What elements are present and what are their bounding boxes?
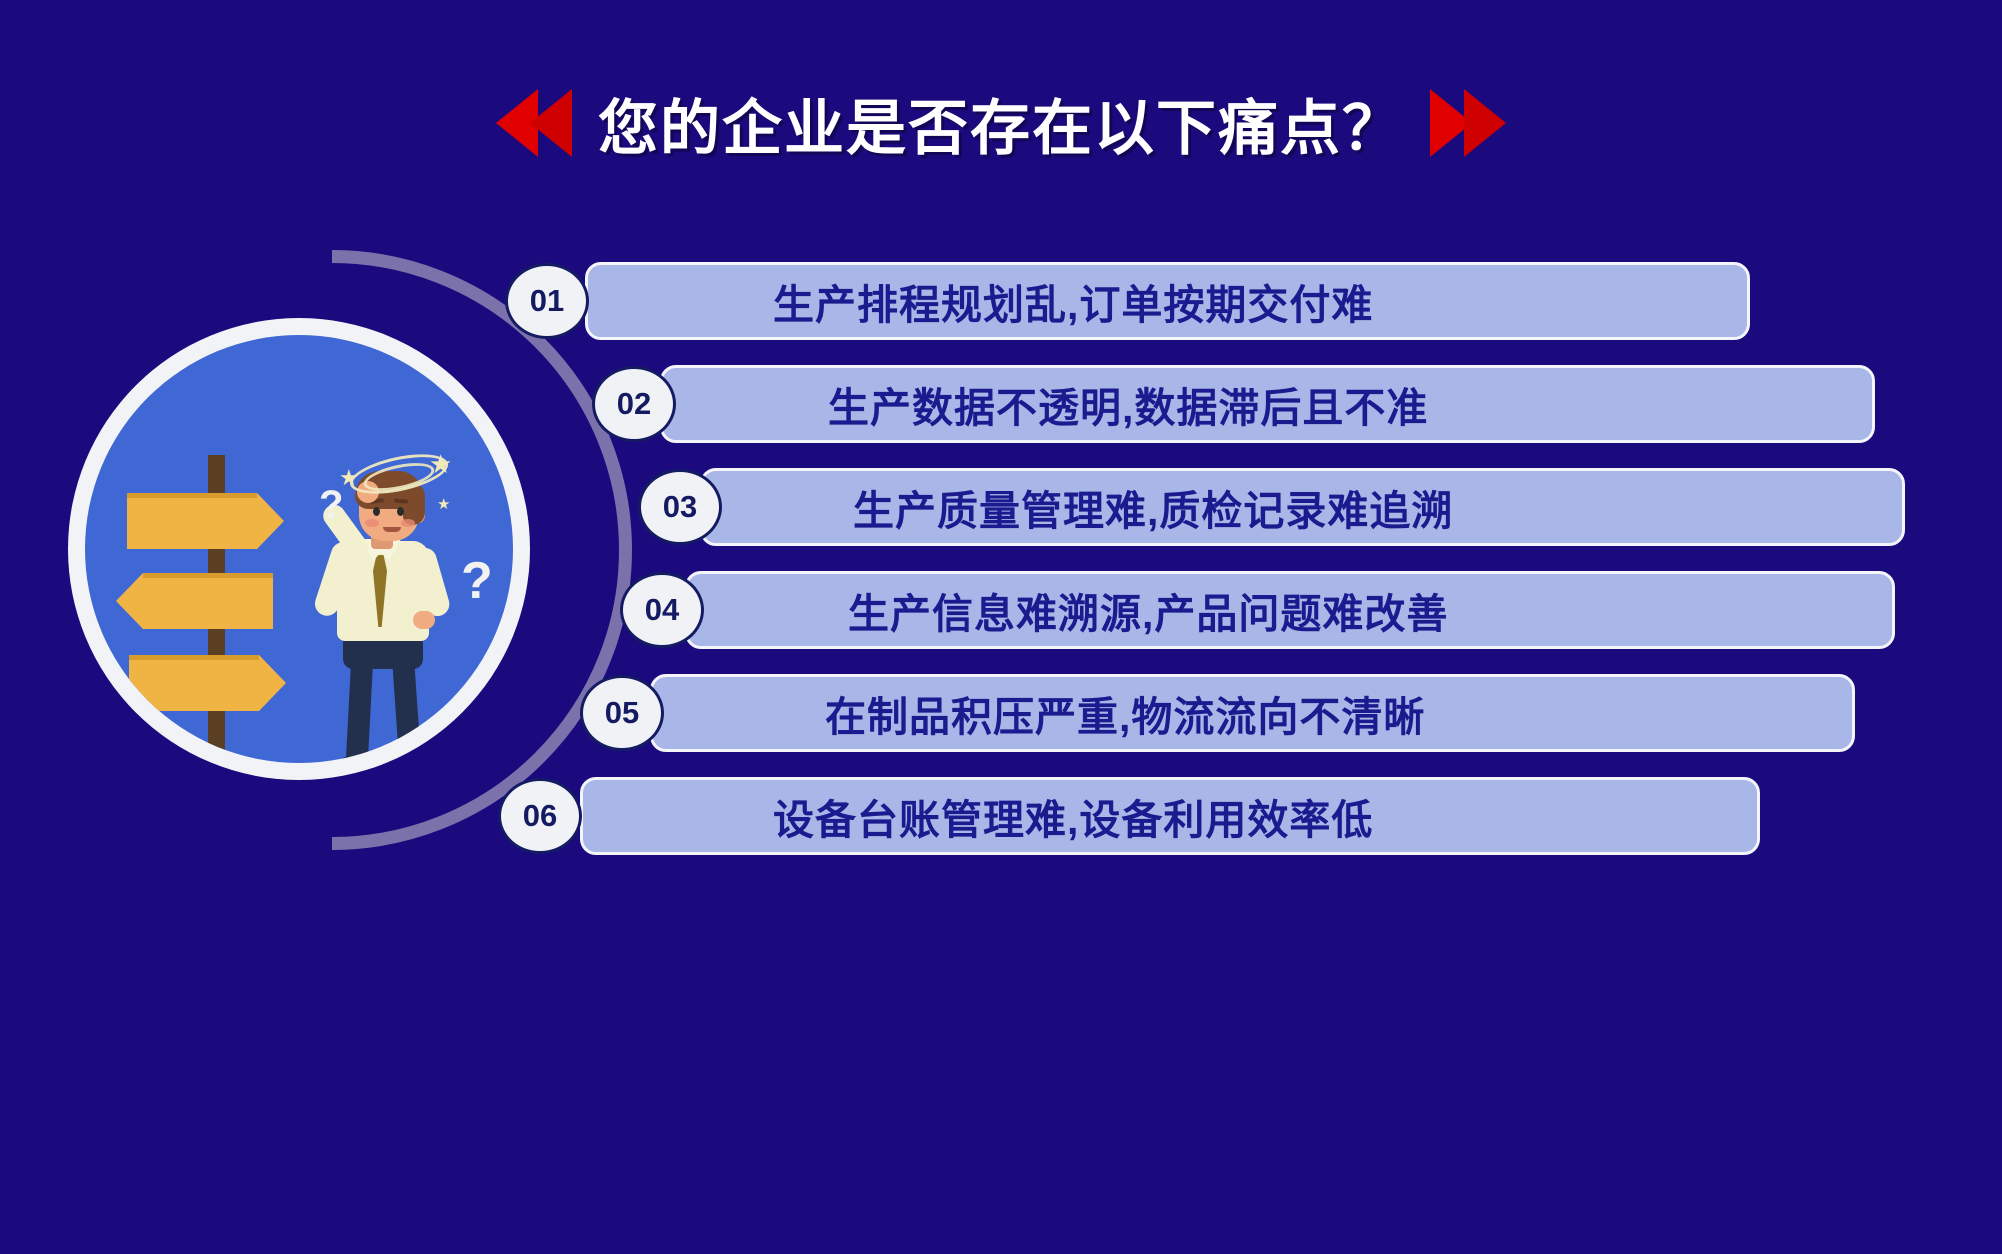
pain-point-label: 在制品积压严重,物流流向不清晰	[825, 683, 1425, 743]
pain-point-bar[interactable]: 生产数据不透明,数据滞后且不准	[660, 365, 1875, 443]
pain-point-bar[interactable]: 在制品积压严重,物流流向不清晰	[650, 674, 1855, 752]
slide-canvas: 您的企业是否存在以下痛点？	[0, 0, 2002, 1254]
pain-point-label: 生产信息难溯源,产品问题难改善	[848, 580, 1448, 640]
list-item[interactable]: 在制品积压严重,物流流向不清晰 05	[650, 674, 1855, 752]
pain-point-label: 生产排程规划乱,订单按期交付难	[773, 271, 1373, 331]
list-item[interactable]: 生产数据不透明,数据滞后且不准 02	[660, 365, 1875, 443]
list-item[interactable]: 生产质量管理难,质检记录难追溯 03	[700, 468, 1905, 546]
list-item[interactable]: 生产排程规划乱,订单按期交付难 01	[585, 262, 1750, 340]
pain-point-bar[interactable]: 生产质量管理难,质检记录难追溯	[700, 468, 1905, 546]
pain-point-bar[interactable]: 设备台账管理难,设备利用效率低	[580, 777, 1760, 855]
pain-point-number-badge: 03	[638, 469, 722, 545]
pain-point-list: 生产排程规划乱,订单按期交付难 01 生产数据不透明,数据滞后且不准 02 生产…	[0, 0, 2002, 1254]
pain-point-number-badge: 06	[498, 778, 582, 854]
pain-point-bar[interactable]: 生产排程规划乱,订单按期交付难	[585, 262, 1750, 340]
pain-point-number-badge: 04	[620, 572, 704, 648]
pain-point-number-badge: 02	[592, 366, 676, 442]
pain-point-number-badge: 05	[580, 675, 664, 751]
pain-point-label: 生产质量管理难,质检记录难追溯	[853, 477, 1453, 537]
pain-point-label: 设备台账管理难,设备利用效率低	[773, 786, 1373, 846]
list-item[interactable]: 设备台账管理难,设备利用效率低 06	[580, 777, 1760, 855]
pain-point-label: 生产数据不透明,数据滞后且不准	[828, 374, 1428, 434]
list-item[interactable]: 生产信息难溯源,产品问题难改善 04	[685, 571, 1895, 649]
pain-point-number-badge: 01	[505, 263, 589, 339]
pain-point-bar[interactable]: 生产信息难溯源,产品问题难改善	[685, 571, 1895, 649]
